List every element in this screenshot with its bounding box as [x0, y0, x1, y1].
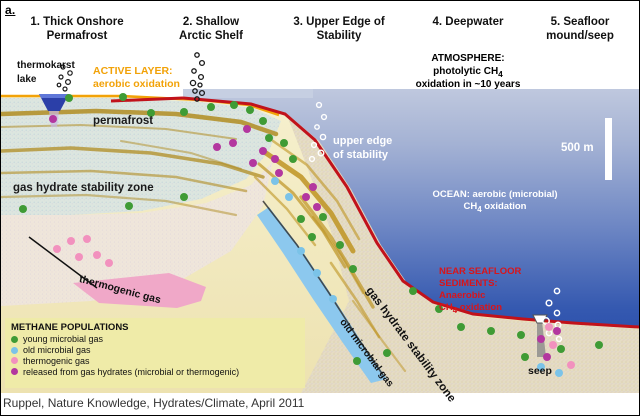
header-3-line2: Stability — [273, 29, 405, 43]
legend-dot-icon-old-microbial — [11, 347, 18, 354]
legend-label-released-hydrates: released from gas hydrates (microbial or… — [23, 367, 239, 377]
header-1-line2: Permafrost — [7, 29, 147, 43]
ocean-line2-text: CH — [463, 201, 477, 212]
header-1: 1. Thick Onshore Permafrost — [7, 15, 147, 43]
seep-label: seep — [528, 365, 552, 377]
header-5: 5. Seafloor mound/seep — [525, 15, 635, 43]
ocean-label: OCEAN: aerobic (microbial) CH4 oxidation — [405, 189, 585, 216]
atmosphere-line2-sub: 4 — [498, 69, 503, 79]
active-layer-line2: aerobic oxidation — [93, 78, 180, 91]
legend-label-young-microbial: young microbial gas — [23, 334, 103, 344]
legend-label-old-microbial: old microbial gas — [23, 345, 91, 355]
legend-box: METHANE POPULATIONS young microbial gas … — [5, 318, 305, 388]
upper-edge-line2: of stability — [333, 149, 392, 163]
near-seafloor-line1: NEAR SEAFLOOR — [439, 266, 521, 278]
ocean-line2: CH4 oxidation — [405, 201, 585, 215]
header-5-line2: mound/seep — [525, 29, 635, 43]
scale-bar — [605, 118, 612, 180]
thermokarst-line1: thermokarst — [17, 59, 75, 73]
header-4-line1: 4. Deepwater — [413, 15, 523, 29]
thermokarst-lake-surface — [39, 94, 69, 98]
header-3: 3. Upper Edge of Stability — [273, 15, 405, 43]
legend-title: METHANE POPULATIONS — [11, 322, 305, 333]
ghsz-slope-label-wrap: gas hydrate stability zone — [373, 285, 514, 297]
atmosphere-line1: ATMOSPHERE: — [373, 53, 563, 66]
active-layer-line1: ACTIVE LAYER: — [93, 65, 180, 78]
ocean-line1: OCEAN: aerobic (microbial) — [405, 189, 585, 201]
header-2-line1: 2. Shallow — [151, 15, 271, 29]
header-1-line1: 1. Thick Onshore — [7, 15, 147, 29]
old-microbial-gas-label-wrap: old microbial gas — [346, 317, 428, 328]
figure-caption: Ruppel, Nature Knowledge, Hydrates/Clima… — [3, 396, 304, 410]
near-seafloor-line4: CH4 oxidation — [439, 302, 521, 316]
legend-dot-icon-thermogenic — [11, 357, 18, 364]
scale-bar-label: 500 m — [561, 142, 594, 154]
legend-item-thermogenic: thermogenic gas — [11, 356, 305, 366]
atmosphere-line3: oxidation in ~10 years — [373, 79, 563, 92]
legend-dot-icon-young-microbial — [11, 336, 18, 343]
legend-dot-icon-released-hydrates — [11, 368, 18, 375]
thermokarst-line2: lake — [17, 73, 75, 87]
upper-edge-label: upper edge of stability — [333, 135, 392, 163]
header-5-line1: 5. Seafloor — [525, 15, 635, 29]
header-3-line1: 3. Upper Edge of — [273, 15, 405, 29]
atmosphere-label: ATMOSPHERE: photolytic CH4 oxidation in … — [373, 53, 563, 91]
thermokarst-lake-label: thermokarst lake — [17, 59, 75, 86]
figure-root: a. 1. Thick Onshore Permafrost 2. Shallo… — [0, 0, 640, 416]
thermogenic-gas-label-wrap: thermogenic gas — [81, 273, 165, 285]
legend-item-released-hydrates: released from gas hydrates (microbial or… — [11, 367, 305, 377]
atmosphere-line2: photolytic CH4 — [373, 66, 563, 79]
active-layer-label: ACTIVE LAYER: aerobic oxidation — [93, 65, 180, 91]
ocean-line2-suffix: oxidation — [482, 201, 527, 212]
header-2-line2: Arctic Shelf — [151, 29, 271, 43]
ghsz-onshore-label: gas hydrate stability zone — [13, 182, 154, 194]
header-4: 4. Deepwater — [413, 15, 523, 29]
legend-item-young-microbial: young microbial gas — [11, 334, 305, 344]
header-2: 2. Shallow Arctic Shelf — [151, 15, 271, 43]
atmosphere-line2-text: photolytic CH — [433, 66, 498, 77]
near-seafloor-line4-text: CH — [439, 302, 453, 313]
near-seafloor-line4-suffix: oxidation — [457, 302, 502, 313]
upper-edge-line1: upper edge — [333, 135, 392, 149]
legend-label-thermogenic: thermogenic gas — [23, 356, 90, 366]
permafrost-label: permafrost — [93, 115, 153, 127]
legend-item-old-microbial: old microbial gas — [11, 345, 305, 355]
